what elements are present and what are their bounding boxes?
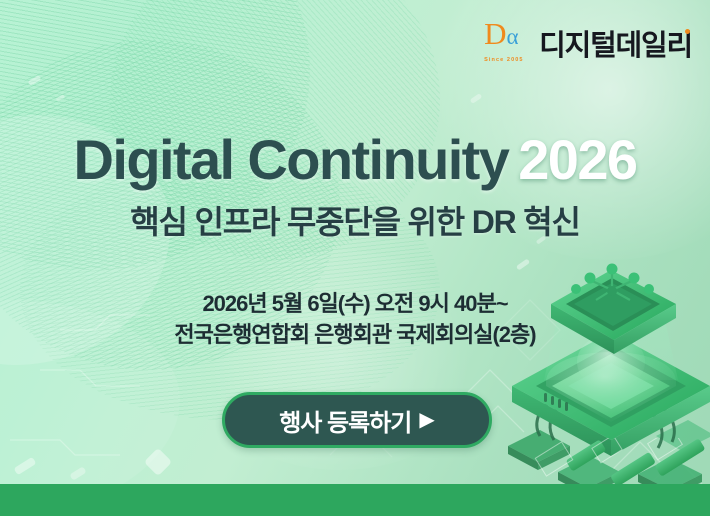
fleck-7 [14,457,37,475]
fleck-2 [56,94,66,102]
event-venue: 전국은행연합회 은행회관 국제회의실(2층) [0,319,710,350]
logo-since-text: Since 2005 [484,57,523,63]
logo-wordmark: 디지털데일리 [539,30,692,62]
fleck-3 [470,93,483,104]
hero-subtitle: 핵심 인프라 무중단을 위한 DR 혁신 [0,202,710,242]
bottom-accent-bar [0,484,710,516]
logo-monogram: Dα [484,18,532,52]
logo-accent-dot [685,29,690,34]
event-details: 2026년 5월 6일(수) 오전 9시 40분~ 전국은행연합회 은행회관 국… [0,288,710,350]
register-button-label: 행사 등록하기 [279,403,411,438]
logo-letter-alpha: α [507,24,519,49]
hero-title-en: Digital Continuity [74,128,509,191]
event-promo-banner: Dα Since 2005 디지털데일리 Digital Continuity2… [0,0,710,516]
logo-letter-d: D [484,16,506,51]
play-arrow-icon: ▶ [419,410,434,430]
fleck-8 [69,466,86,480]
publisher-logo[interactable]: Dα Since 2005 디지털데일리 [484,18,692,62]
logo-mark: Dα Since 2005 [484,18,532,62]
fleck-1 [28,75,42,86]
hero-title-year: 2026 [518,128,636,191]
bottom-bar-decoration [460,438,710,484]
logo-wordmark-text: 디지털데일리 [539,30,692,62]
register-button[interactable]: 행사 등록하기 ▶ [222,392,492,448]
event-datetime: 2026년 5월 6일(수) 오전 9시 40분~ [0,288,710,319]
hero-title: Digital Continuity2026 [0,128,710,192]
fleck-9 [144,448,172,476]
